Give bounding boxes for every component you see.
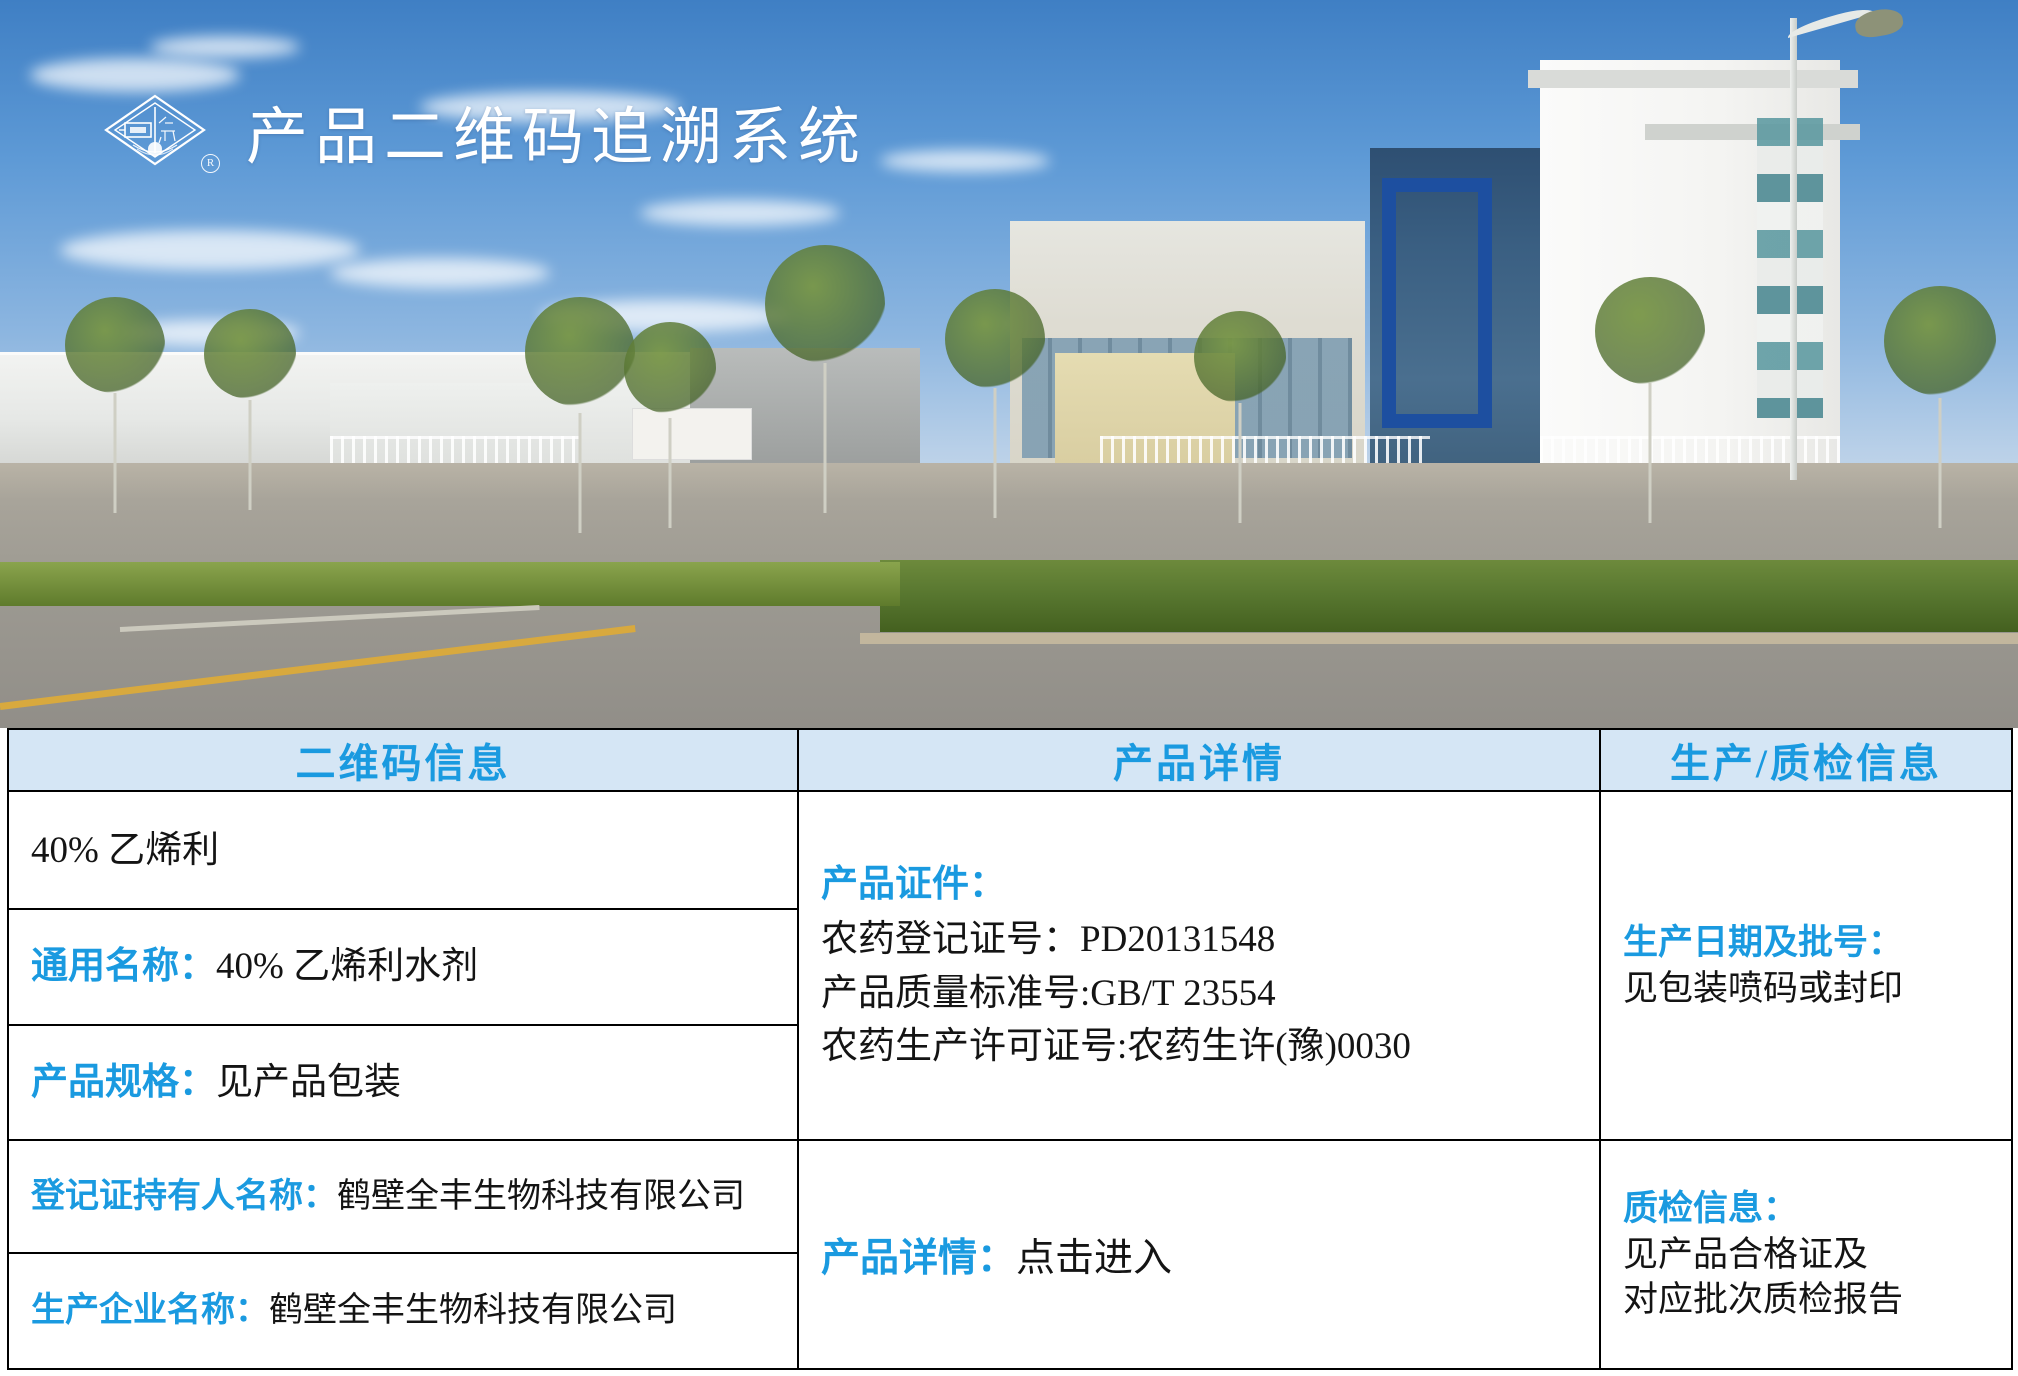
tree — [760, 263, 890, 513]
manufacturer-value: 鹤壁全丰生物科技有限公司 — [269, 1292, 677, 1329]
certs-label: 产品证件： — [821, 858, 1577, 911]
hero-banner-photo: R 产品二维码追溯系统 — [0, 0, 2018, 728]
column-header-detail: 产品详情 — [798, 729, 1600, 791]
common-name-label: 通用名称： — [31, 946, 216, 987]
tree — [60, 313, 170, 513]
grass-strip-left — [0, 562, 900, 606]
cert-production-license-no: 农药生产许可证号:农药生许(豫)0030 — [821, 1020, 1577, 1073]
tree — [620, 338, 720, 528]
production-date-label: 生产日期及批号： — [1623, 920, 1989, 966]
brand-header: R 产品二维码追溯系统 — [98, 86, 867, 176]
traceability-table: 二维码信息 产品详情 生产/质检信息 40% 乙烯利 产品证件： 农药登记证号：… — [7, 728, 2013, 1370]
column-header-qr: 二维码信息 — [8, 729, 798, 791]
column-header-prod: 生产/质检信息 — [1600, 729, 2012, 791]
product-detail-link-text[interactable]: 点击进入 — [1016, 1237, 1172, 1280]
table-row: 40% 乙烯利 产品证件： 农药登记证号：PD20131548 产品质量标准号:… — [8, 791, 2012, 909]
cell-production-date: 生产日期及批号： 见包装喷码或封印 — [1600, 791, 2012, 1140]
road-edge-line — [120, 605, 540, 632]
quality-info-label: 质检信息： — [1623, 1186, 1989, 1232]
table-header-row: 二维码信息 产品详情 生产/质检信息 — [8, 729, 2012, 791]
road-center-line — [0, 625, 636, 710]
cell-product-detail-link[interactable]: 产品详情：点击进入 — [798, 1140, 1600, 1369]
cert-registration-no: 农药登记证号：PD20131548 — [821, 913, 1577, 966]
product-detail-label: 产品详情： — [821, 1237, 1016, 1280]
license-holder-label: 登记证持有人名称： — [31, 1178, 337, 1215]
tree — [1880, 308, 2000, 528]
license-holder-value: 鹤壁全丰生物科技有限公司 — [337, 1178, 745, 1215]
cell-common-name: 通用名称：40% 乙烯利水剂 — [8, 909, 798, 1025]
diamond-logo-icon — [103, 93, 207, 167]
road-curb — [860, 633, 2018, 644]
cert-quality-standard-no: 产品质量标准号:GB/T 23554 — [821, 967, 1577, 1020]
traceability-page: R 产品二维码追溯系统 二维码信息 产品详情 生产/质检信息 40% — [0, 0, 2018, 1376]
info-table-area: 二维码信息 产品详情 生产/质检信息 40% 乙烯利 产品证件： 农药登记证号：… — [0, 728, 2018, 1376]
cell-license-holder: 登记证持有人名称：鹤壁全丰生物科技有限公司 — [8, 1140, 798, 1253]
table-row: 登记证持有人名称：鹤壁全丰生物科技有限公司 产品详情：点击进入 质检信息： 见产… — [8, 1140, 2012, 1253]
cell-specification: 产品规格：见产品包装 — [8, 1025, 798, 1141]
manufacturer-label: 生产企业名称： — [31, 1292, 269, 1329]
white-tower-canopy — [1645, 124, 1860, 140]
page-title: 产品二维码追溯系统 — [246, 86, 867, 176]
guoguang-logo: R — [98, 87, 216, 175]
quality-info-line2: 对应批次质检报告 — [1623, 1277, 1989, 1323]
cell-manufacturer: 生产企业名称：鹤壁全丰生物科技有限公司 — [8, 1253, 798, 1369]
quality-info-line1: 见产品合格证及 — [1623, 1232, 1989, 1278]
cell-product-certificates: 产品证件： 农药登记证号：PD20131548 产品质量标准号:GB/T 235… — [798, 791, 1600, 1140]
tree — [1590, 293, 1710, 523]
tree — [1190, 323, 1290, 523]
hedge-row-right — [880, 560, 2018, 632]
registered-trademark-icon: R — [201, 154, 220, 173]
street-lamp-pole — [1790, 18, 1797, 480]
product-name-value: 40% 乙烯利 — [31, 830, 219, 871]
cell-product-name: 40% 乙烯利 — [8, 791, 798, 909]
white-tower-roof — [1528, 70, 1858, 88]
specification-label: 产品规格： — [31, 1062, 216, 1103]
tree — [200, 325, 300, 510]
tree — [940, 303, 1050, 518]
specification-value: 见产品包装 — [216, 1062, 401, 1103]
production-date-value: 见包装喷码或封印 — [1623, 969, 1903, 1008]
cell-quality-info: 质检信息： 见产品合格证及 对应批次质检报告 — [1600, 1140, 2012, 1369]
blue-steel-frame — [1382, 178, 1492, 428]
common-name-value: 40% 乙烯利水剂 — [216, 946, 478, 987]
